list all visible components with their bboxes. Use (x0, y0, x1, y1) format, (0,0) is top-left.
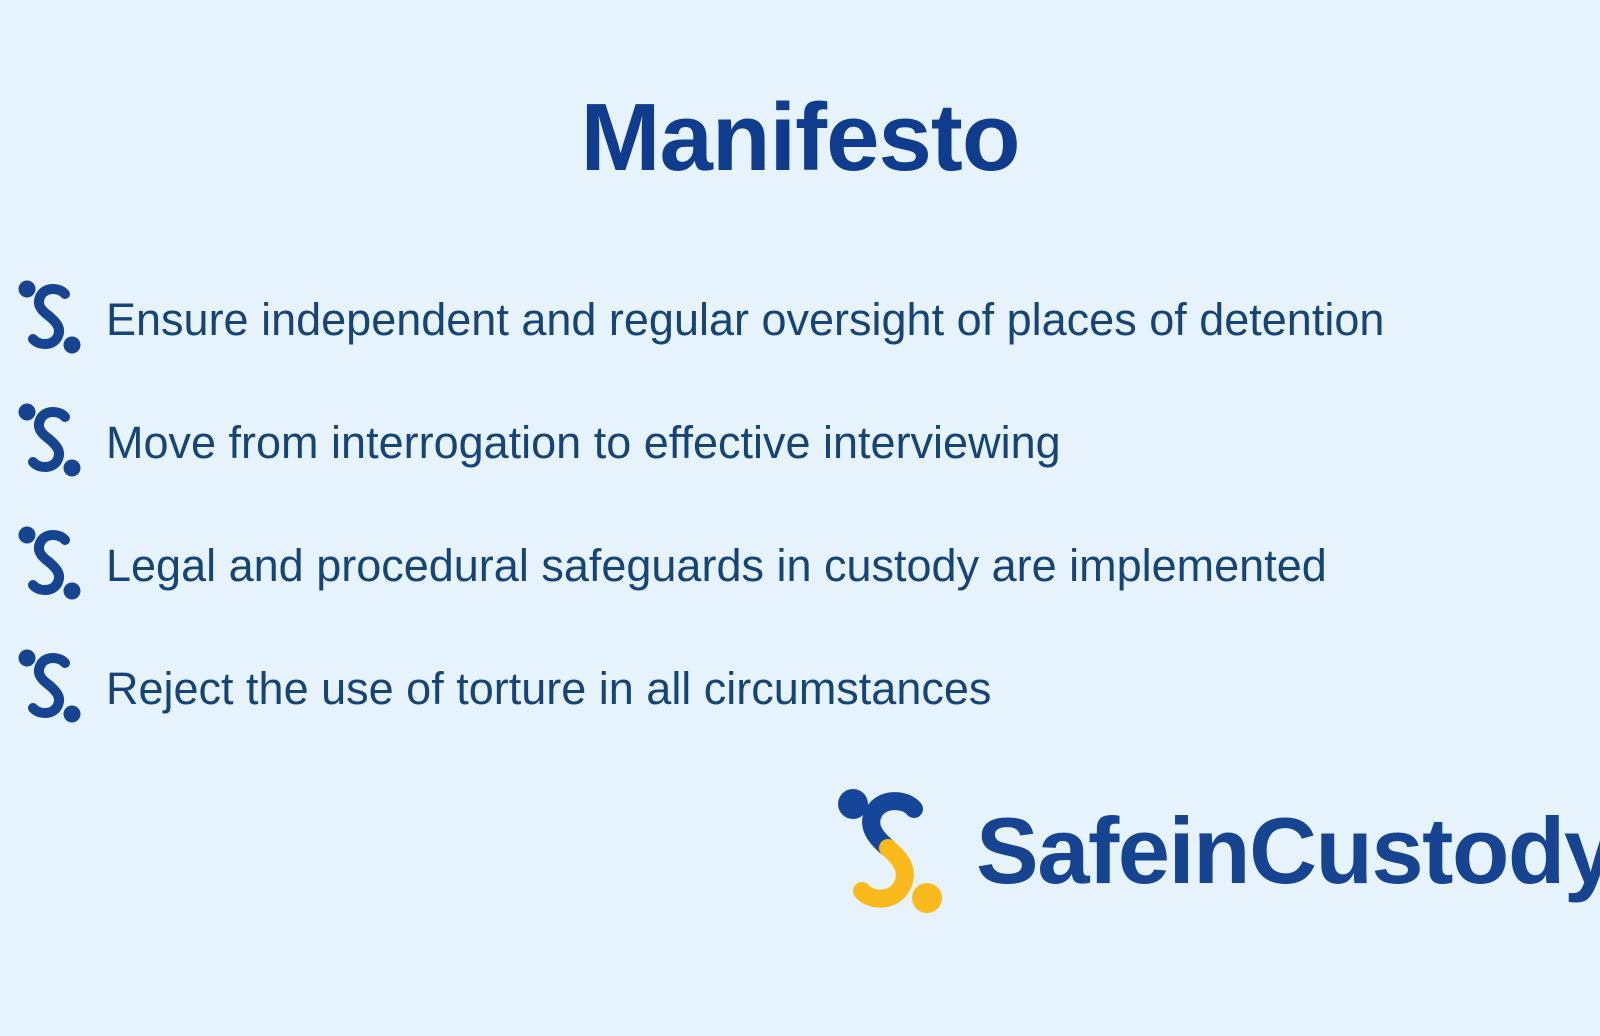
list-item-label: Ensure independent and regular oversight… (106, 294, 1384, 346)
safeincustody-s-monogram-icon (8, 270, 94, 370)
list-item: Move from interrogation to effective int… (8, 381, 1588, 504)
page-title: Manifesto (0, 88, 1600, 189)
safeincustody-s-monogram-icon (8, 516, 94, 616)
list-item: Reject the use of torture in all circums… (8, 627, 1588, 750)
list-item-label: Reject the use of torture in all circums… (106, 663, 991, 715)
list-item-label: Legal and procedural safeguards in custo… (106, 540, 1327, 592)
list-item-label: Move from interrogation to effective int… (106, 417, 1061, 469)
list-item: Ensure independent and regular oversight… (8, 258, 1588, 381)
slide-canvas: Manifesto Ensure independent and regular… (0, 0, 1600, 1036)
safeincustody-s-monogram-icon (8, 639, 94, 739)
brand-wordmark: SafeinCustody (976, 804, 1600, 898)
title-block: Manifesto (0, 88, 1600, 189)
manifesto-list: Ensure independent and regular oversight… (8, 258, 1588, 750)
safeincustody-s-monogram-icon (8, 393, 94, 493)
list-item: Legal and procedural safeguards in custo… (8, 504, 1588, 627)
brand-logo-lockup: SafeinCustody (826, 778, 1600, 924)
safeincustody-logo-icon (826, 778, 954, 924)
